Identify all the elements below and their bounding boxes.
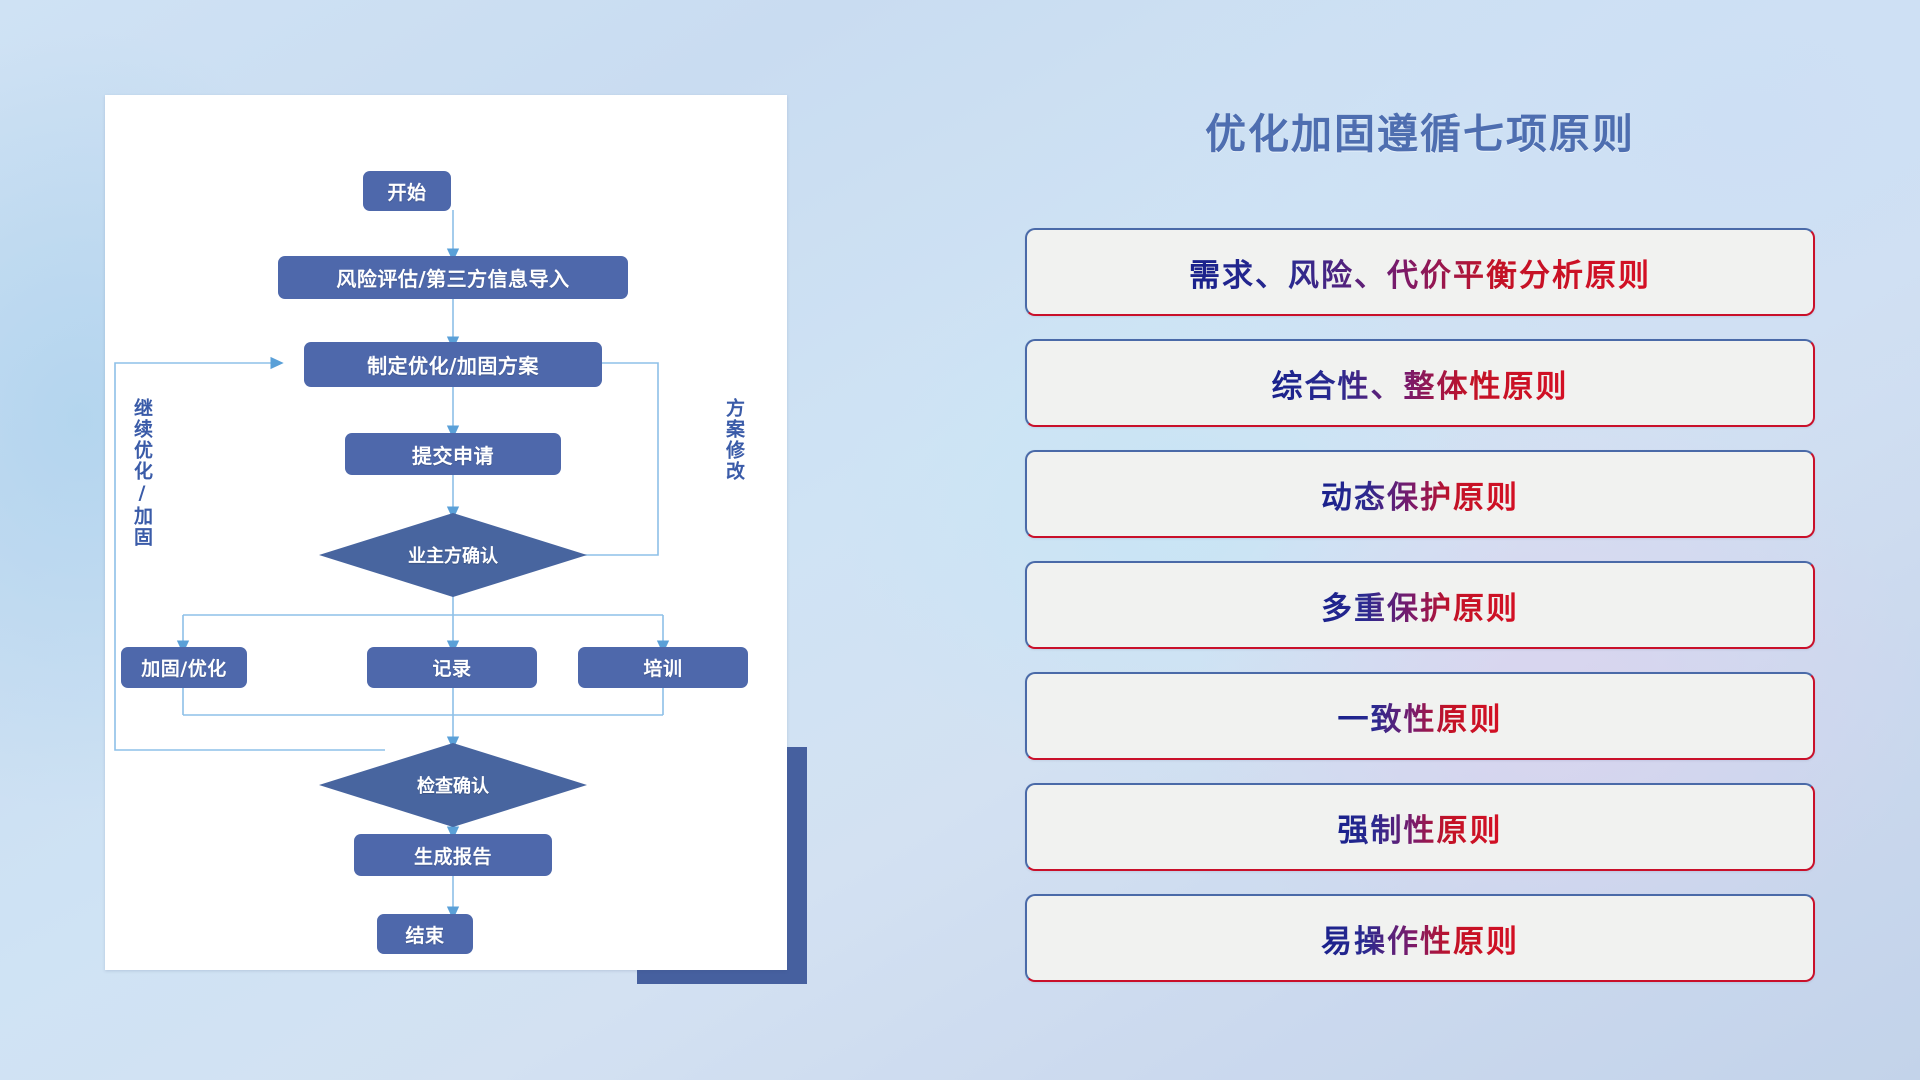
flow-node-generate-report[interactable]: 生成报告 <box>354 834 552 876</box>
flow-node-submit-application[interactable]: 提交申请 <box>345 433 561 475</box>
principle-label: 需求、风险、代价平衡分析原则 <box>1189 250 1651 295</box>
principles-panel: 优化加固遵循七项原则 需求、风险、代价平衡分析原则 综合性、整体性原则 动态保护… <box>1010 100 1830 1000</box>
principle-label: 多重保护原则 <box>1321 583 1519 628</box>
flow-node-label: 记录 <box>432 654 471 681</box>
flow-node-label: 风险评估/第三方信息导入 <box>336 263 569 292</box>
flow-edge-label-plan-revision: 方案修改 <box>723 398 743 482</box>
principle-label: 综合性、整体性原则 <box>1272 361 1569 406</box>
flow-node-label: 结束 <box>405 921 444 948</box>
flow-node-training[interactable]: 培训 <box>578 647 748 688</box>
principles-list: 需求、风险、代价平衡分析原则 综合性、整体性原则 动态保护原则 多重保护原则 一… <box>1025 228 1815 1005</box>
slide-canvas: 开始 风险评估/第三方信息导入 制定优化/加固方案 提交申请 业主方确认 加固/… <box>0 0 1920 1080</box>
principle-item[interactable]: 需求、风险、代价平衡分析原则 <box>1025 228 1815 316</box>
flow-edge-label-continue-optimize: 继续优化/加固 <box>131 398 151 548</box>
principle-item[interactable]: 易操作性原则 <box>1025 894 1815 982</box>
flowchart-diagram: 开始 风险评估/第三方信息导入 制定优化/加固方案 提交申请 业主方确认 加固/… <box>105 95 787 970</box>
flow-node-label: 生成报告 <box>414 842 492 869</box>
principle-label: 动态保护原则 <box>1321 472 1519 517</box>
flow-node-label: 提交申请 <box>412 440 494 469</box>
principle-label: 强制性原则 <box>1338 805 1503 850</box>
flow-node-label: 检查确认 <box>417 772 489 798</box>
principle-label: 易操作性原则 <box>1321 916 1519 961</box>
flow-node-label: 业主方确认 <box>408 542 498 568</box>
flow-node-label: 加固/优化 <box>141 654 226 681</box>
flow-node-record[interactable]: 记录 <box>367 647 537 688</box>
flow-node-label: 培训 <box>643 654 682 681</box>
flow-node-label: 制定优化/加固方案 <box>367 350 539 379</box>
panel-title: 优化加固遵循七项原则 <box>1010 100 1830 160</box>
principle-item[interactable]: 综合性、整体性原则 <box>1025 339 1815 427</box>
flow-node-risk-assessment[interactable]: 风险评估/第三方信息导入 <box>278 256 628 299</box>
principle-item[interactable]: 一致性原则 <box>1025 672 1815 760</box>
flow-node-plan[interactable]: 制定优化/加固方案 <box>304 342 602 387</box>
flow-node-start[interactable]: 开始 <box>363 171 451 211</box>
flowchart-card: 开始 风险评估/第三方信息导入 制定优化/加固方案 提交申请 业主方确认 加固/… <box>105 95 787 970</box>
flow-node-end[interactable]: 结束 <box>377 914 473 954</box>
principle-item[interactable]: 多重保护原则 <box>1025 561 1815 649</box>
principle-item[interactable]: 强制性原则 <box>1025 783 1815 871</box>
flow-node-reinforce[interactable]: 加固/优化 <box>121 647 247 688</box>
flow-node-label: 开始 <box>387 178 426 205</box>
principle-label: 一致性原则 <box>1338 694 1503 739</box>
principle-item[interactable]: 动态保护原则 <box>1025 450 1815 538</box>
